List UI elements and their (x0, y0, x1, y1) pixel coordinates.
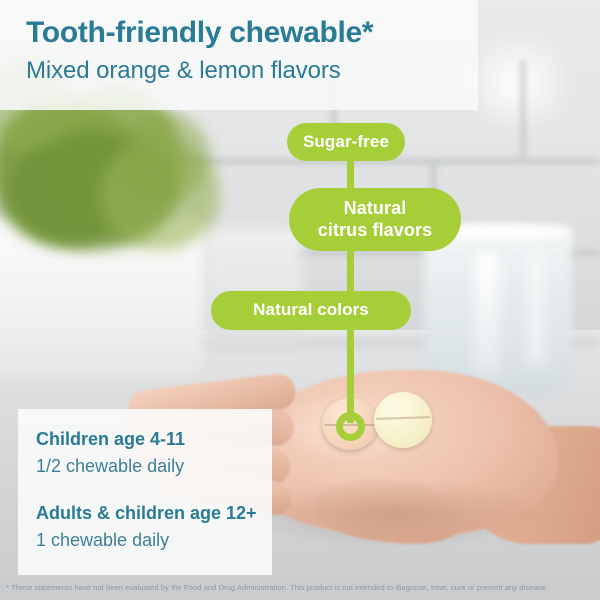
callout-label: Natural citrus flavors (318, 198, 432, 240)
callout-label-line2: citrus flavors (318, 220, 432, 240)
page-title: Tooth-friendly chewable* (26, 16, 478, 49)
callout-label-line1: Natural (344, 198, 407, 218)
palm-shadow (242, 480, 542, 546)
tile-grout-line (520, 60, 526, 160)
product-infographic: Sugar-free Natural citrus flavors Natura… (0, 0, 600, 600)
dosage-group-children: Children age 4-11 1/2 chewable daily (36, 429, 272, 477)
page-subtitle: Mixed orange & lemon flavors (26, 58, 478, 84)
blurred-jar (206, 228, 302, 352)
callout-connector-line (347, 246, 354, 296)
dosage-amount: 1/2 chewable daily (36, 456, 272, 478)
dosage-panel: Children age 4-11 1/2 chewable daily Adu… (18, 409, 272, 575)
dosage-group-adults: Adults & children age 12+ 1 chewable dai… (36, 503, 272, 551)
dosage-title: Adults & children age 12+ (36, 503, 272, 525)
lemon-chewable-tablet (374, 392, 432, 448)
dosage-title: Children age 4-11 (36, 429, 272, 451)
callout-natural-colors: Natural colors (211, 291, 411, 330)
callout-connector-line (347, 326, 354, 423)
header-panel: Tooth-friendly chewable* Mixed orange & … (0, 0, 478, 110)
dosage-amount: 1 chewable daily (36, 530, 272, 552)
fda-disclaimer: * These statements have not been evaluat… (6, 583, 598, 592)
callout-label: Sugar-free (303, 132, 389, 152)
callout-label: Natural colors (253, 300, 369, 320)
callout-sugar-free: Sugar-free (287, 123, 405, 161)
plant-foliage (120, 112, 210, 202)
callout-natural-citrus-flavors: Natural citrus flavors (289, 188, 461, 251)
callout-connector-line (347, 156, 354, 192)
water-glass-highlight (528, 246, 544, 366)
tablet-marker-ring-icon (336, 412, 365, 441)
